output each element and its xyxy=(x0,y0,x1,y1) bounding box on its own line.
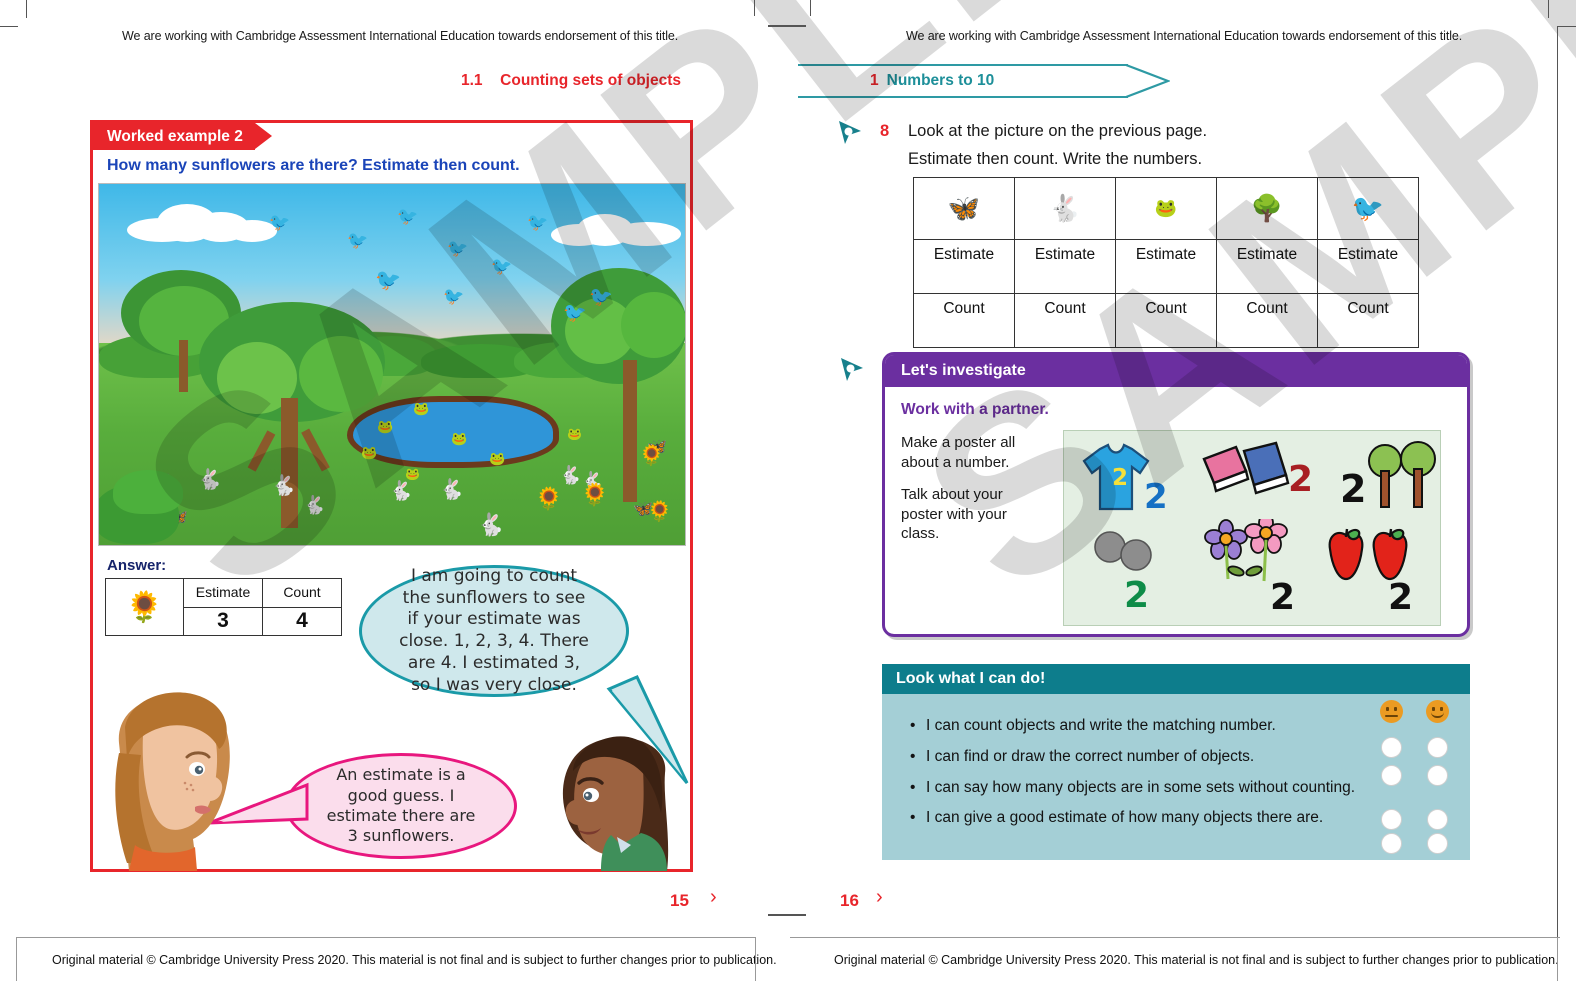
chapter-tab-label: 1Numbers to 10 xyxy=(870,72,994,90)
count-cell-4[interactable]: Count xyxy=(1217,294,1318,348)
smiling-face-icon xyxy=(1426,700,1449,723)
rabbit-2: 🐇 xyxy=(271,476,296,496)
cloud-left xyxy=(127,204,277,240)
answer-estimate-value: 3 xyxy=(184,607,263,636)
boy-character xyxy=(525,729,685,871)
stones-icon xyxy=(1092,531,1156,576)
worked-example-box: Worked example 2 How many sunflowers are… xyxy=(90,120,693,872)
count-row: Count Count Count Count Count xyxy=(914,294,1419,348)
footer-right: Original material © Cambridge University… xyxy=(790,937,1560,981)
chapter-tab-top-rule xyxy=(798,64,1128,66)
page-chevron-right: › xyxy=(876,886,883,909)
bullet-icon: • xyxy=(910,716,926,736)
poster-number-apples: 2 xyxy=(1388,577,1413,618)
bird-fly-7: 🐦 xyxy=(527,214,548,231)
bird-fly-1: 🐦 xyxy=(269,214,290,231)
sunflower-1: 🌻 xyxy=(535,488,562,510)
poster-number-tshirt: 2 xyxy=(1144,477,1168,517)
count-cell-5[interactable]: Count xyxy=(1318,294,1419,348)
boy-illustration xyxy=(525,729,685,871)
frog-1: 🐸 xyxy=(377,420,393,433)
chapter-title: Numbers to 10 xyxy=(887,72,995,89)
estimate-row: Estimate Estimate Estimate Estimate Esti… xyxy=(914,240,1419,294)
sunflower-icon: 🌻 xyxy=(106,579,184,636)
response-circle-neutral-2[interactable] xyxy=(1381,765,1402,786)
lets-investigate-box: Let's investigate Work with a partner. M… xyxy=(882,352,1470,637)
count-cell-1[interactable]: Count xyxy=(914,294,1015,348)
crop-mark-tr-v xyxy=(1548,0,1549,18)
response-circle-smile-2[interactable] xyxy=(1427,765,1448,786)
cloud-right xyxy=(551,214,681,246)
estimate-cell-1[interactable]: Estimate xyxy=(914,240,1015,294)
poster-number-stones: 2 xyxy=(1124,575,1149,616)
tree-icon: 🌳 xyxy=(1217,178,1318,240)
estimate-cell-5[interactable]: Estimate xyxy=(1318,240,1419,294)
chapter-tab: 1Numbers to 10 xyxy=(798,64,1168,98)
right-page: 1Numbers to 10 8 Look at the picture on … xyxy=(790,0,1576,981)
response-circle-smile-3[interactable] xyxy=(1427,809,1448,830)
rabbit-6: 🐇 xyxy=(477,514,504,536)
look-what-i-can-do-box: Look what I can do! • I can count object… xyxy=(882,664,1470,860)
crop-mark-tr-h xyxy=(1557,26,1576,27)
checklist-item: • I can count objects and write the matc… xyxy=(910,716,1410,736)
sunflower-4: 🌻 xyxy=(647,502,672,522)
left-page: 1.1 Counting sets of objects Worked exam… xyxy=(0,0,755,981)
rabbit-3: 🐇 xyxy=(303,496,325,514)
rabbit-7: 🐇 xyxy=(559,466,581,484)
section-heading: 1.1 Counting sets of objects xyxy=(461,72,681,90)
look-what-i-can-do-header: Look what I can do! xyxy=(882,664,1470,694)
checklist-item: • I can find or draw the correct number … xyxy=(910,747,1410,767)
girl-illustration xyxy=(101,683,261,871)
rabbit-5: 🐇 xyxy=(439,480,464,500)
footer-divider-right xyxy=(1557,937,1558,981)
response-circle-smile-1[interactable] xyxy=(1427,737,1448,758)
answer-table-header-estimate: Estimate xyxy=(184,579,263,608)
crop-mark-tl-v xyxy=(26,0,27,18)
footer-divider-left xyxy=(16,937,17,981)
park-scene-illustration: 🐦 🐦 🐦 🐦 🐦 🐦 🐦 🐦 🐦 🐦 🐇 🐇 🐇 🐇 🐇 🐇 🐇 🐇 xyxy=(98,183,686,546)
footer-text-left: Original material © Cambridge University… xyxy=(52,953,777,967)
rabbit-icon: 🐇 xyxy=(1015,178,1116,240)
speaking-pointer-icon-exercise xyxy=(836,118,864,146)
checklist-item: • I can say how many objects are in some… xyxy=(910,778,1410,798)
bird-perch-2: 🐦 xyxy=(589,288,613,307)
chapter-number: 1 xyxy=(870,72,879,89)
estimate-cell-4[interactable]: Estimate xyxy=(1217,240,1318,294)
poster-number-books: 2 xyxy=(1288,459,1313,500)
checklist-item-text-4: I can give a good estimate of how many o… xyxy=(926,808,1323,828)
frog-3: 🐸 xyxy=(361,446,377,459)
checklist-item: • I can give a good estimate of how many… xyxy=(910,808,1410,828)
page-number-left: 15 xyxy=(670,891,689,911)
bullet-icon: • xyxy=(910,747,926,767)
t-shirt-icon: 2 xyxy=(1078,443,1154,520)
sunflower-2: 🌻 xyxy=(581,484,608,506)
butterfly-icon: 🦋 xyxy=(914,178,1015,240)
trees-icon xyxy=(1368,439,1436,518)
worked-example-banner: Worked example 2 xyxy=(93,123,255,150)
lets-investigate-para1: Make a poster all about a number. xyxy=(901,433,1041,472)
response-circle-neutral-4[interactable] xyxy=(1381,833,1402,854)
exercise-number-8: 8 xyxy=(880,122,889,141)
frog-6: 🐸 xyxy=(405,468,420,480)
poster-number-flowers: 2 xyxy=(1270,577,1295,618)
bird-fly-8: 🐦 xyxy=(443,288,464,305)
bullet-icon: • xyxy=(910,778,926,798)
bird-perch-1: 🐦 xyxy=(563,304,587,323)
crop-mark-gutter-h-bottom xyxy=(768,914,806,916)
lets-investigate-subhead: Work with a partner. xyxy=(901,401,1049,419)
checklist-item-text-2: I can find or draw the correct number of… xyxy=(926,747,1254,767)
footer-divider-left-inner xyxy=(755,937,756,981)
lets-investigate-header: Let's investigate xyxy=(885,355,1467,387)
crop-mark-gutter-h xyxy=(768,25,806,27)
frog-icon: 🐸 xyxy=(1116,178,1217,240)
page-number-right: 16 xyxy=(840,891,859,911)
number-poster-image: 2 2 2 2 xyxy=(1063,430,1441,626)
bird-fly-6: 🐦 xyxy=(491,258,512,275)
bird-fly-2: 🐦 xyxy=(347,232,368,249)
answer-table: 🌻 Estimate Count 3 4 xyxy=(105,578,342,636)
bird-icon: 🐦 xyxy=(1318,178,1419,240)
response-circle-neutral-3[interactable] xyxy=(1381,809,1402,830)
bird-fly-3: 🐦 xyxy=(397,208,418,225)
fg-bush-left2 xyxy=(113,470,183,514)
frog-2: 🐸 xyxy=(413,402,429,415)
footer-left: Original material © Cambridge University… xyxy=(16,937,756,981)
estimate-count-icon-row: 🦋 🐇 🐸 🌳 🐦 xyxy=(914,178,1419,240)
exercise-8-line2: Estimate then count. Write the numbers. xyxy=(908,150,1202,169)
svg-text:2: 2 xyxy=(1112,465,1128,491)
frog-5: 🐸 xyxy=(489,452,505,465)
answer-count-value: 4 xyxy=(263,607,342,636)
exercise-8-line1: Look at the picture on the previous page… xyxy=(908,122,1207,141)
count-cell-3[interactable]: Count xyxy=(1116,294,1217,348)
worked-example-question: How many sunflowers are there? Estimate … xyxy=(107,157,520,175)
girl-character xyxy=(101,683,261,871)
bird-fly-4: 🐦 xyxy=(447,240,468,257)
answer-table-header-count: Count xyxy=(263,579,342,608)
speaking-pointer-icon-investigate xyxy=(838,355,866,383)
rabbit-4: 🐇 xyxy=(389,482,413,501)
lets-investigate-para2: Talk about your poster with your class. xyxy=(901,485,1041,544)
answer-table-row-top: 🌻 Estimate Count xyxy=(106,579,342,608)
bullet-icon: • xyxy=(910,808,926,828)
estimate-cell-2[interactable]: Estimate xyxy=(1015,240,1116,294)
page-right-edge xyxy=(1557,26,1558,937)
checklist-item-text-3: I can say how many objects are in some s… xyxy=(926,778,1355,798)
poster-number-trees: 2 xyxy=(1340,467,1366,511)
response-circle-smile-4[interactable] xyxy=(1427,833,1448,854)
checklist-item-text-1: I can count objects and write the matchi… xyxy=(926,716,1276,736)
response-circle-neutral-1[interactable] xyxy=(1381,737,1402,758)
checklist-items: • I can count objects and write the matc… xyxy=(910,716,1410,839)
footer-text-right: Original material © Cambridge University… xyxy=(834,953,1559,967)
chapter-tab-bottom-rule xyxy=(798,96,1128,98)
crop-mark-tl-h xyxy=(0,26,18,27)
crop-mark-gutter-r xyxy=(810,0,811,16)
frog-4: 🐸 xyxy=(451,432,467,445)
bird-fly-5: 🐦 xyxy=(375,270,401,291)
section-number: 1.1 xyxy=(461,72,483,89)
books-icon xyxy=(1200,441,1290,512)
rabbit-1: 🐇 xyxy=(197,470,222,490)
chapter-tab-arrow-icon xyxy=(1126,64,1170,98)
frog-7: 🐸 xyxy=(567,428,582,440)
estimate-count-table: 🦋 🐇 🐸 🌳 🐦 Estimate Estimate Estimate Est… xyxy=(913,177,1419,348)
estimate-cell-3[interactable]: Estimate xyxy=(1116,240,1217,294)
page-chevron-left: › xyxy=(710,886,717,909)
speech-bubble-girl-text: An estimate is a good guess. I estimate … xyxy=(288,765,514,847)
speech-bubble-girl: An estimate is a good guess. I estimate … xyxy=(285,753,517,859)
crop-mark-gutter-l xyxy=(754,0,755,16)
sunflower-3: 🌻 xyxy=(639,446,664,466)
textbook-spread: SAMPLE SAMPLE We are working with Cambri… xyxy=(0,0,1576,981)
answer-label: Answer: xyxy=(107,557,166,574)
section-title: Counting sets of objects xyxy=(500,72,681,89)
count-cell-2[interactable]: Count xyxy=(1015,294,1116,348)
